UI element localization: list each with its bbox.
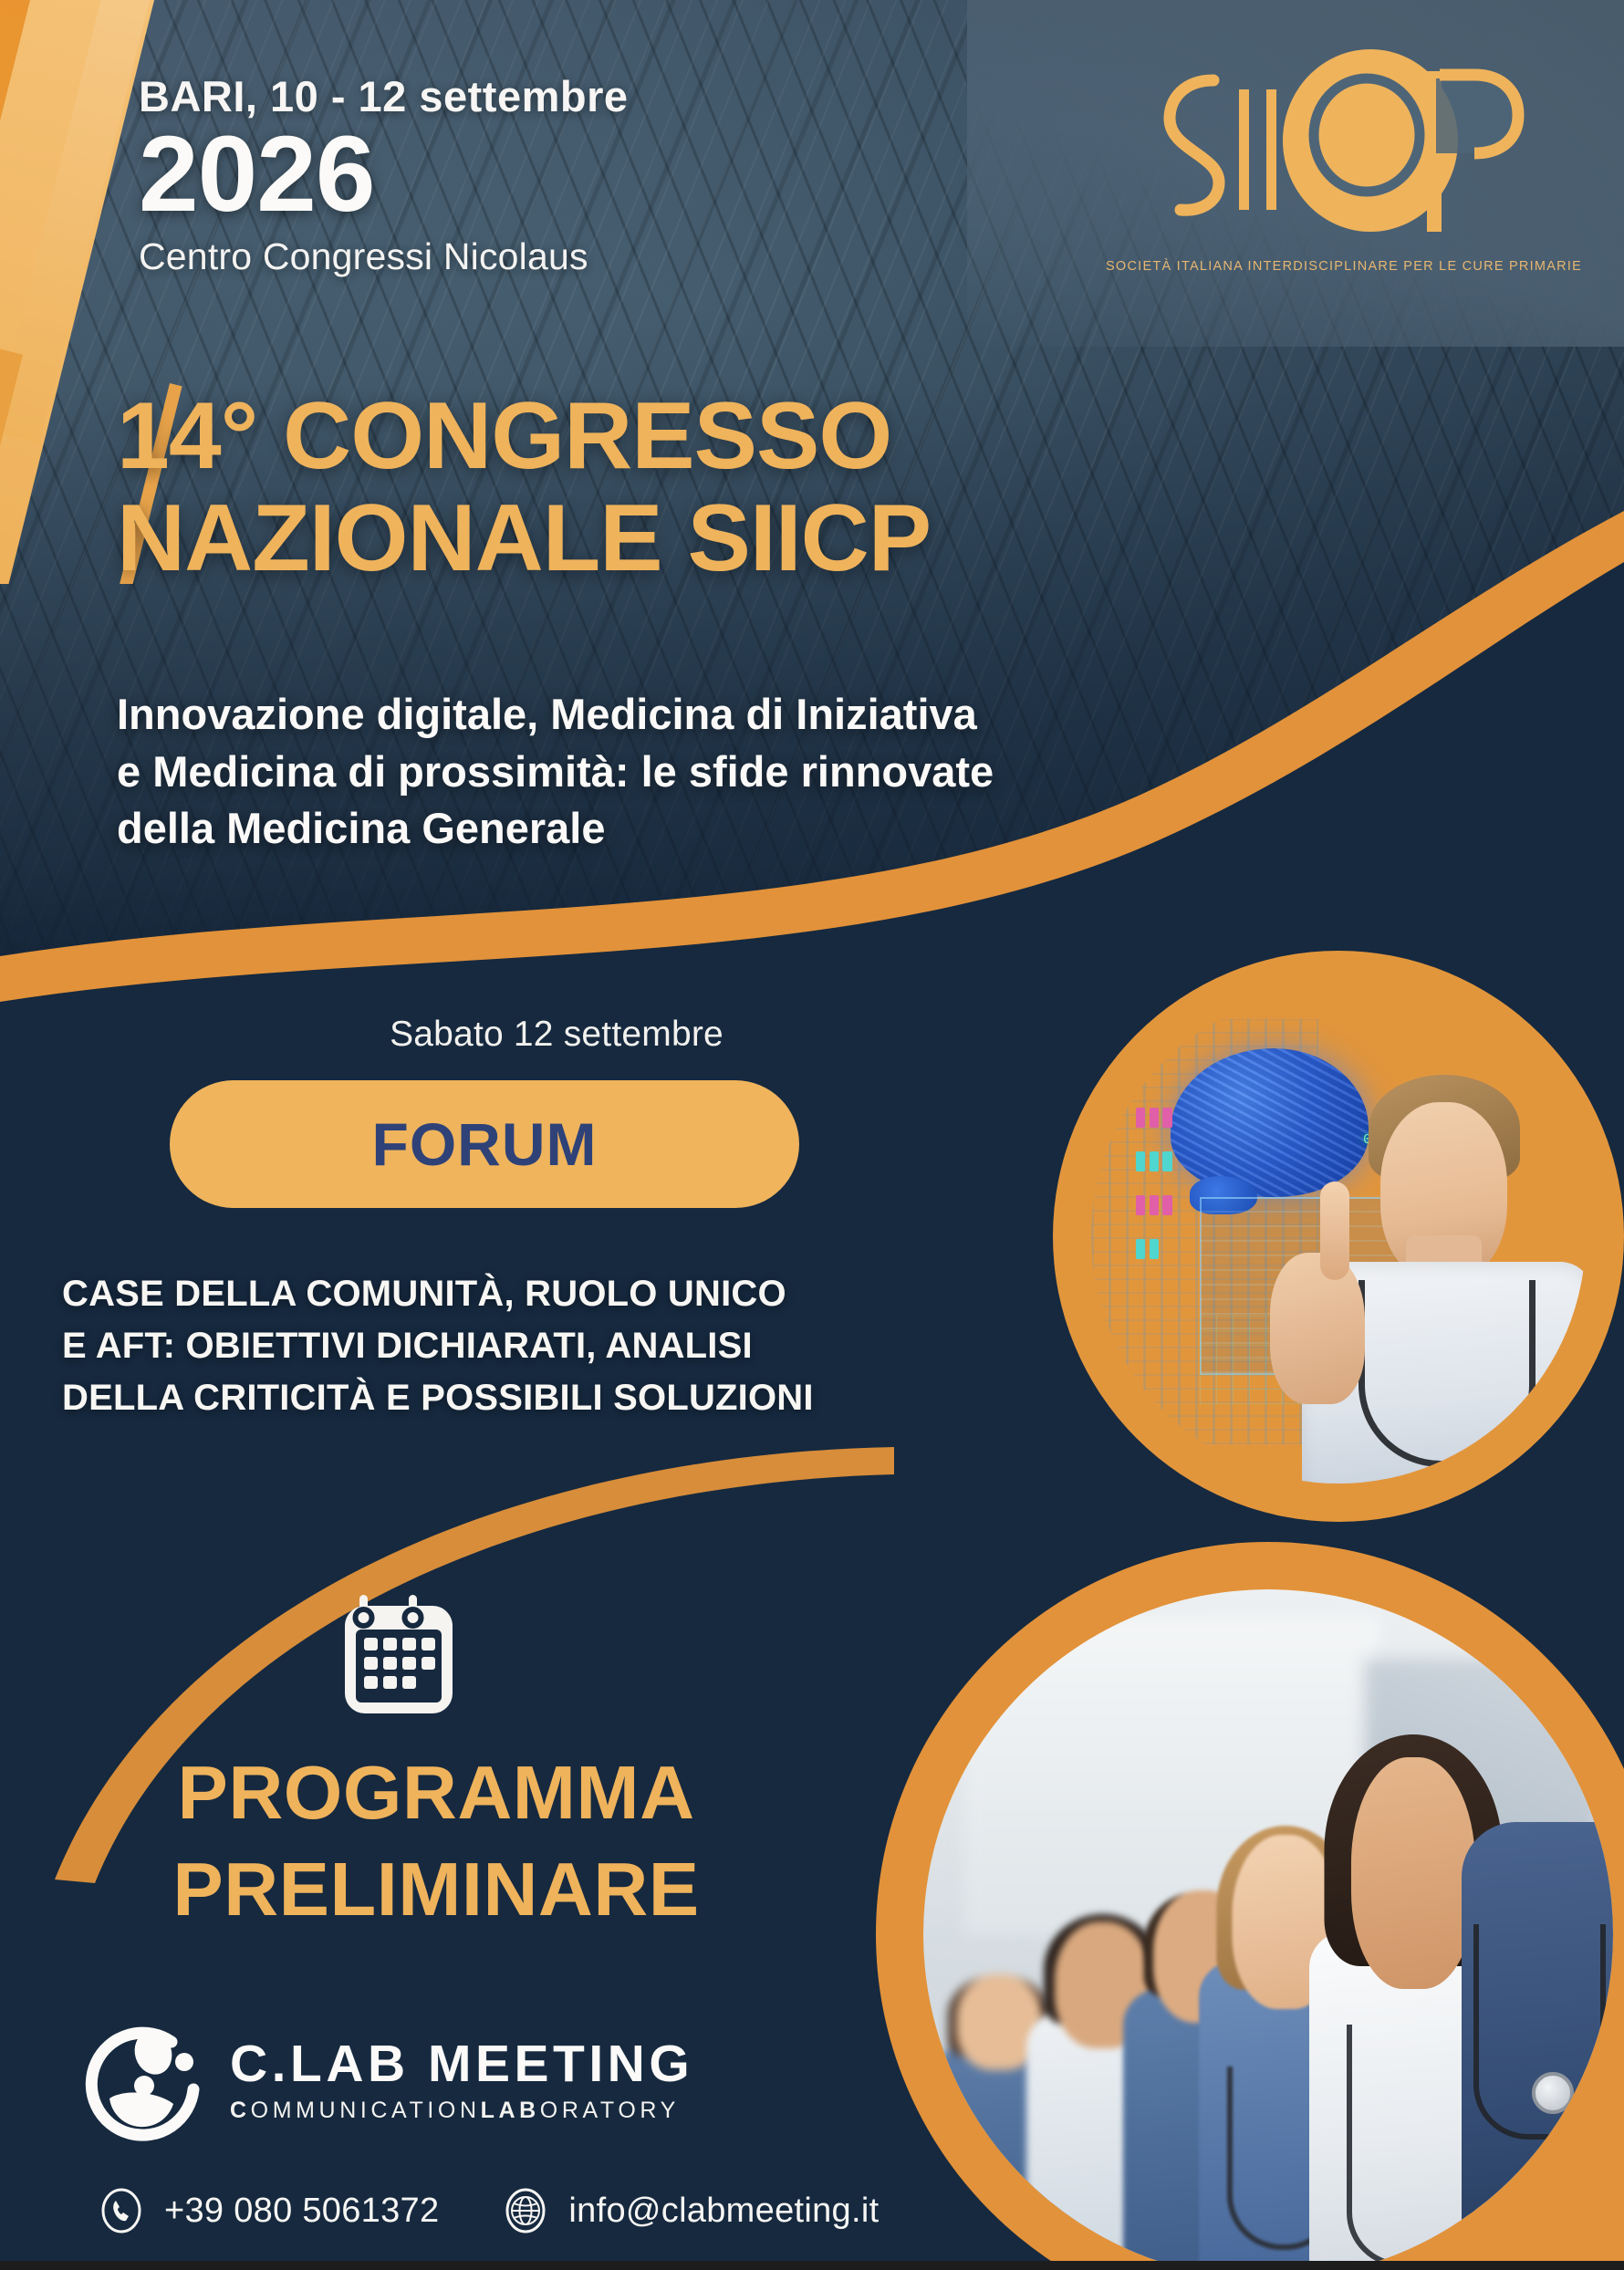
siicp-logo-mark (1106, 38, 1525, 255)
doctor-pointing-finger (1320, 1182, 1348, 1279)
phone-icon (99, 2188, 144, 2234)
programme-line-1: PROGRAMMA (80, 1744, 792, 1841)
clab-logo-mark (84, 2022, 213, 2151)
organizer-subtitle-communication: OMMUNICATION (251, 2098, 481, 2123)
data-bars (1136, 1108, 1175, 1276)
conference-poster: BARI, 10 - 12 settembre 2026 Centro Cong… (0, 0, 1624, 2270)
clab-wordmark: C.LAB MEETING COMMUNICATIONLABORATORY (230, 2038, 693, 2122)
programme-line-2: PRELIMINARE (80, 1841, 792, 1938)
subtitle-line-1: Innovazione digitale, Medicina di Inizia… (117, 686, 1421, 744)
venue-name: Centro Congressi Nicolaus (139, 235, 960, 278)
year: 2026 (139, 123, 960, 226)
doctor-stethoscope (1359, 1280, 1536, 1467)
organizer-logo: C.LAB MEETING COMMUNICATIONLABORATORY (84, 2018, 814, 2164)
header-block: BARI, 10 - 12 settembre 2026 Centro Cong… (139, 71, 960, 278)
globe-icon (503, 2188, 548, 2234)
organizer-subtitle: COMMUNICATIONLABORATORY (230, 2099, 693, 2122)
bottom-edge (0, 2261, 1624, 2270)
forum-topic-line-1: CASE DELLA COMUNITÀ, RUOLO UNICO (62, 1268, 1084, 1320)
title-line-2: NAZIONALE SIICP (117, 487, 1540, 589)
organizer-subtitle-lab: LAB (481, 2098, 540, 2123)
title-line-1: 14° CONGRESSO (117, 385, 1540, 487)
page-title: 14° CONGRESSO NAZIONALE SIICP (117, 385, 1540, 590)
subtitle-line-2: e Medicina di prossimità: le sfide rinno… (117, 744, 1421, 801)
doctor-hand (1270, 1253, 1365, 1404)
forum-topic-line-2: E AFT: OBIETTIVI DICHIARATI, ANALISI (62, 1320, 1084, 1372)
calendar-icon (339, 1589, 458, 1717)
siicp-logo: SOCIETÀ ITALIANA INTERDISCIPLINARE PER L… (1106, 38, 1525, 274)
organizer-subtitle-oratory: ORATORY (540, 2098, 680, 2123)
email-address[interactable]: info@clabmeeting.it (568, 2192, 879, 2231)
team-member-right (1462, 1644, 1613, 2270)
doctor-hologram-photo: 01:03:32.500 (1091, 989, 1586, 1484)
forum-topic: CASE DELLA COMUNITÀ, RUOLO UNICO E AFT: … (62, 1268, 1084, 1423)
phone-number[interactable]: +39 080 5061372 (164, 2192, 439, 2231)
forum-button-label: FORUM (372, 1109, 598, 1179)
siicp-logo-tagline: SOCIETÀ ITALIANA INTERDISCIPLINARE PER L… (1106, 259, 1525, 274)
congress-subtitle: Innovazione digitale, Medicina di Inizia… (117, 686, 1421, 858)
organizer-name: C.LAB MEETING (230, 2038, 693, 2090)
organizer-subtitle-c: C (230, 2098, 251, 2123)
doctor-figure (1289, 1048, 1586, 1484)
forum-date: Sabato 12 settembre (283, 1015, 830, 1055)
programme-heading: PROGRAMMA PRELIMINARE (80, 1744, 792, 1938)
contact-bar: +39 080 5061372 info@clabmeeting.it (99, 2188, 879, 2234)
forum-topic-line-3: DELLA CRITICITÀ E POSSIBILI SOLUZIONI (62, 1372, 1084, 1424)
medical-team-photo (923, 1589, 1613, 2270)
forum-button[interactable]: FORUM (170, 1080, 799, 1208)
subtitle-line-3: della Medicina Generale (117, 800, 1421, 858)
